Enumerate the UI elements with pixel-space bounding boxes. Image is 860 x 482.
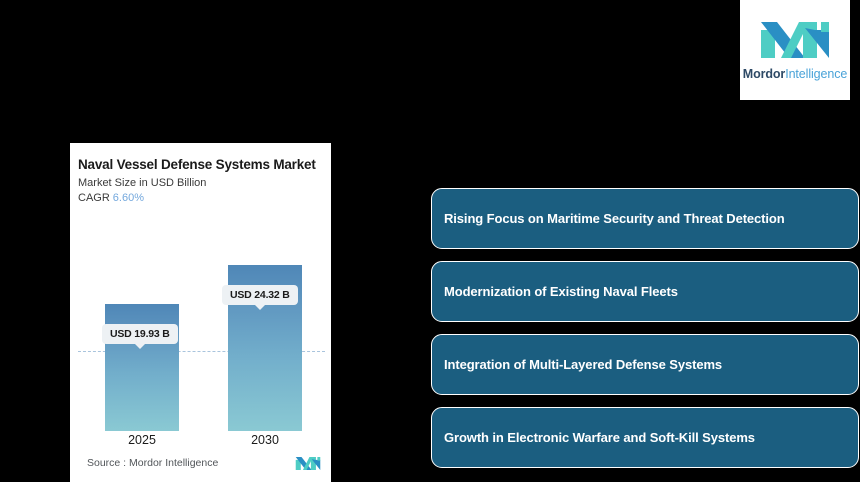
chart-panel: Naval Vessel Defense Systems Market Mark… <box>70 143 331 482</box>
bar-value-label-2025: USD 19.93 B <box>102 324 178 344</box>
chart-subtitle: Market Size in USD Billion <box>78 177 331 189</box>
mordor-m-logo-icon <box>759 20 831 60</box>
bar-value-label-2030: USD 24.32 B <box>222 285 298 305</box>
driver-card-1[interactable]: Rising Focus on Maritime Security and Th… <box>431 188 859 249</box>
driver-card-4[interactable]: Growth in Electronic Warfare and Soft-Ki… <box>431 407 859 468</box>
chart-source-label: Source : Mordor Intelligence <box>87 457 218 469</box>
driver-card-label: Growth in Electronic Warfare and Soft-Ki… <box>444 430 755 445</box>
x-axis-tick-2030: 2030 <box>228 433 302 447</box>
x-axis-tick-2025: 2025 <box>105 433 179 447</box>
brand-name-light: Intelligence <box>785 67 847 81</box>
driver-card-label: Modernization of Existing Naval Fleets <box>444 284 678 299</box>
chart-footer: Source : Mordor Intelligence <box>70 450 331 476</box>
x-axis-labels: 2025 2030 <box>70 431 331 451</box>
cagr-value: 6.60% <box>113 192 144 204</box>
cagr-label: CAGR <box>78 192 110 204</box>
chart-plot-area: USD 19.93 B USD 24.32 B 2025 2030 <box>70 205 331 451</box>
driver-card-label: Rising Focus on Maritime Security and Th… <box>444 211 785 226</box>
chart-cagr: CAGR6.60% <box>78 192 331 204</box>
brand-wordmark: MordorIntelligence <box>743 67 848 81</box>
chart-title: Naval Vessel Defense Systems Market <box>78 157 331 172</box>
brand-logo-box: MordorIntelligence <box>740 0 850 100</box>
driver-card-2[interactable]: Modernization of Existing Naval Fleets <box>431 261 859 322</box>
mordor-m-logo-icon <box>295 456 321 471</box>
driver-card-label: Integration of Multi-Layered Defense Sys… <box>444 357 722 372</box>
driver-card-3[interactable]: Integration of Multi-Layered Defense Sys… <box>431 334 859 395</box>
market-drivers-list: Rising Focus on Maritime Security and Th… <box>431 188 859 480</box>
brand-name-bold: Mordor <box>743 67 785 81</box>
